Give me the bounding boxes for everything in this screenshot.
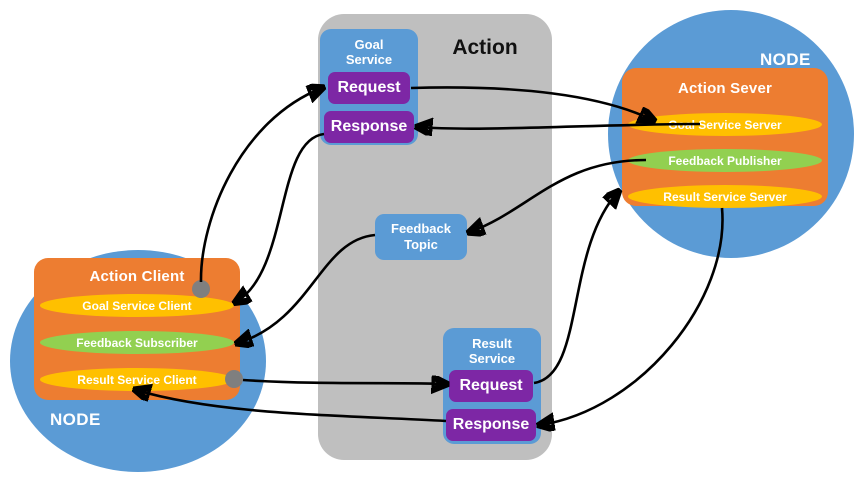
arrow-goal-response-to-client (236, 134, 324, 302)
goal-service-title-line1: Goal (355, 37, 384, 52)
pill-label: Feedback Publisher (668, 154, 781, 168)
feedback-topic-line1: Feedback (391, 221, 451, 236)
goal-service-title-line2: Service (346, 52, 392, 67)
pill-label: Result Service Server (663, 190, 786, 204)
result-service-title-line1: Result (472, 336, 512, 351)
pill-feedback-subscriber[interactable]: Feedback Subscriber (40, 331, 234, 354)
client-goal-connector-dot (192, 280, 210, 298)
pill-goal-service-client[interactable]: Goal Service Client (40, 294, 234, 317)
result-service-title: Result Service (443, 336, 541, 366)
pill-label: Result Service Client (77, 373, 196, 387)
action-client-title: Action Client (34, 268, 240, 285)
result-request-box[interactable]: Request (449, 370, 533, 402)
pill-label: Goal Service Client (82, 299, 191, 313)
pill-label: Feedback Subscriber (76, 336, 197, 350)
result-response-label: Response (453, 416, 529, 434)
result-response-box[interactable]: Response (446, 409, 536, 441)
action-container-label: Action (430, 36, 540, 60)
result-service-title-line2: Service (469, 351, 515, 366)
pill-result-service-client[interactable]: Result Service Client (40, 368, 234, 391)
arrow-goal-client-to-request (201, 88, 322, 282)
diagram-canvas: Action NODE Action Sever Goal Service Se… (0, 0, 854, 480)
pill-result-service-server[interactable]: Result Service Server (628, 185, 822, 208)
goal-response-label: Response (331, 118, 407, 136)
client-node-label: NODE (50, 410, 101, 430)
server-node-label: NODE (760, 50, 811, 70)
goal-request-box[interactable]: Request (328, 72, 410, 104)
feedback-topic-text: Feedback Topic (391, 221, 451, 253)
goal-service-title: Goal Service (320, 37, 418, 67)
feedback-topic-box[interactable]: Feedback Topic (375, 214, 467, 260)
pill-feedback-publisher[interactable]: Feedback Publisher (628, 149, 822, 172)
goal-request-label: Request (337, 79, 400, 97)
goal-response-box[interactable]: Response (324, 111, 414, 143)
feedback-topic-line2: Topic (404, 237, 438, 252)
pill-label: Goal Service Server (668, 118, 781, 132)
result-request-label: Request (459, 377, 522, 395)
client-result-connector-dot (225, 370, 243, 388)
pill-goal-service-server[interactable]: Goal Service Server (628, 113, 822, 136)
action-server-title: Action Sever (622, 80, 828, 97)
